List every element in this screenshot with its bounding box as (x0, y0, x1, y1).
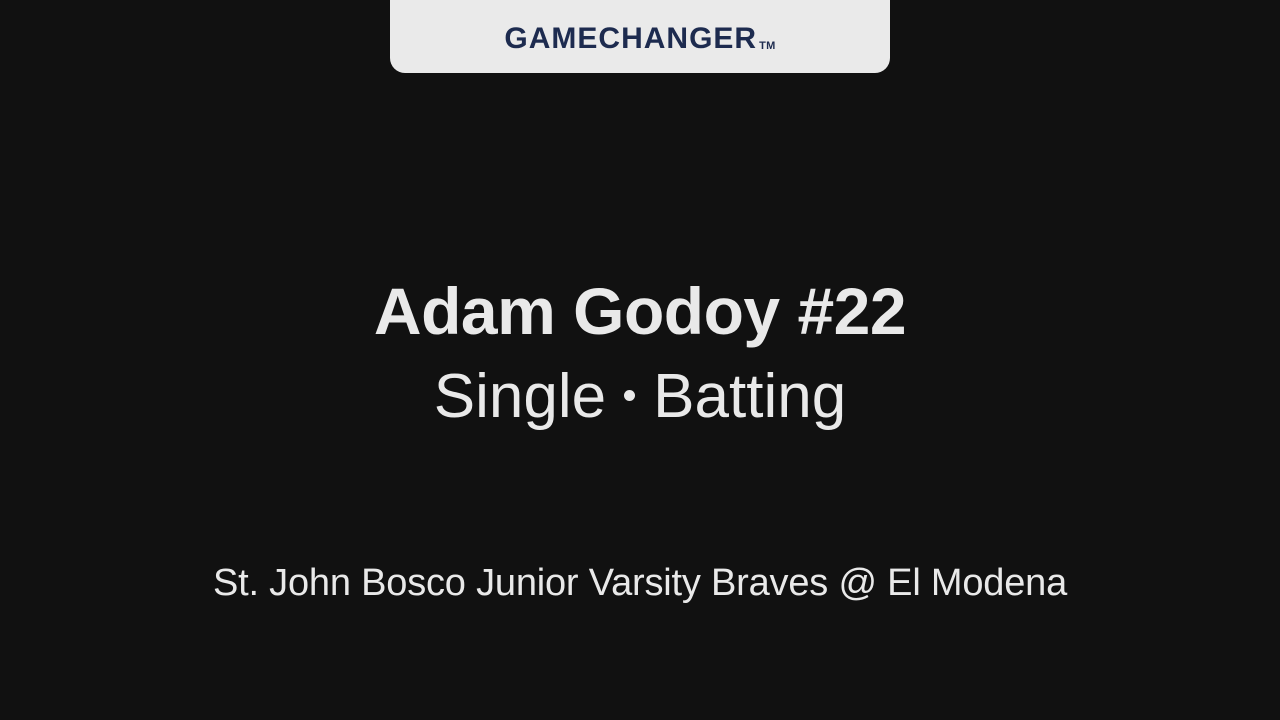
matchup-label: St. John Bosco Junior Varsity Braves @ E… (0, 563, 1280, 605)
gamechanger-wordmark: GAMECHANGER (504, 24, 757, 54)
player-name-and-number: Adam Godoy #22 (0, 278, 1280, 344)
video-overlay-screen: GAMECHANGER TM Adam Godoy #22 Single Bat… (0, 0, 1280, 720)
bullet-separator-icon (624, 390, 635, 401)
play-context-label: Batting (653, 366, 846, 428)
play-headline-group: Adam Godoy #22 Single Batting (0, 278, 1280, 428)
gamechanger-logo-lockup: GAMECHANGER TM (504, 24, 775, 54)
trademark-symbol: TM (759, 41, 775, 52)
gamechanger-logo-badge: GAMECHANGER TM (390, 0, 890, 73)
play-description-line: Single Batting (0, 366, 1280, 428)
play-type-label: Single (434, 366, 606, 428)
